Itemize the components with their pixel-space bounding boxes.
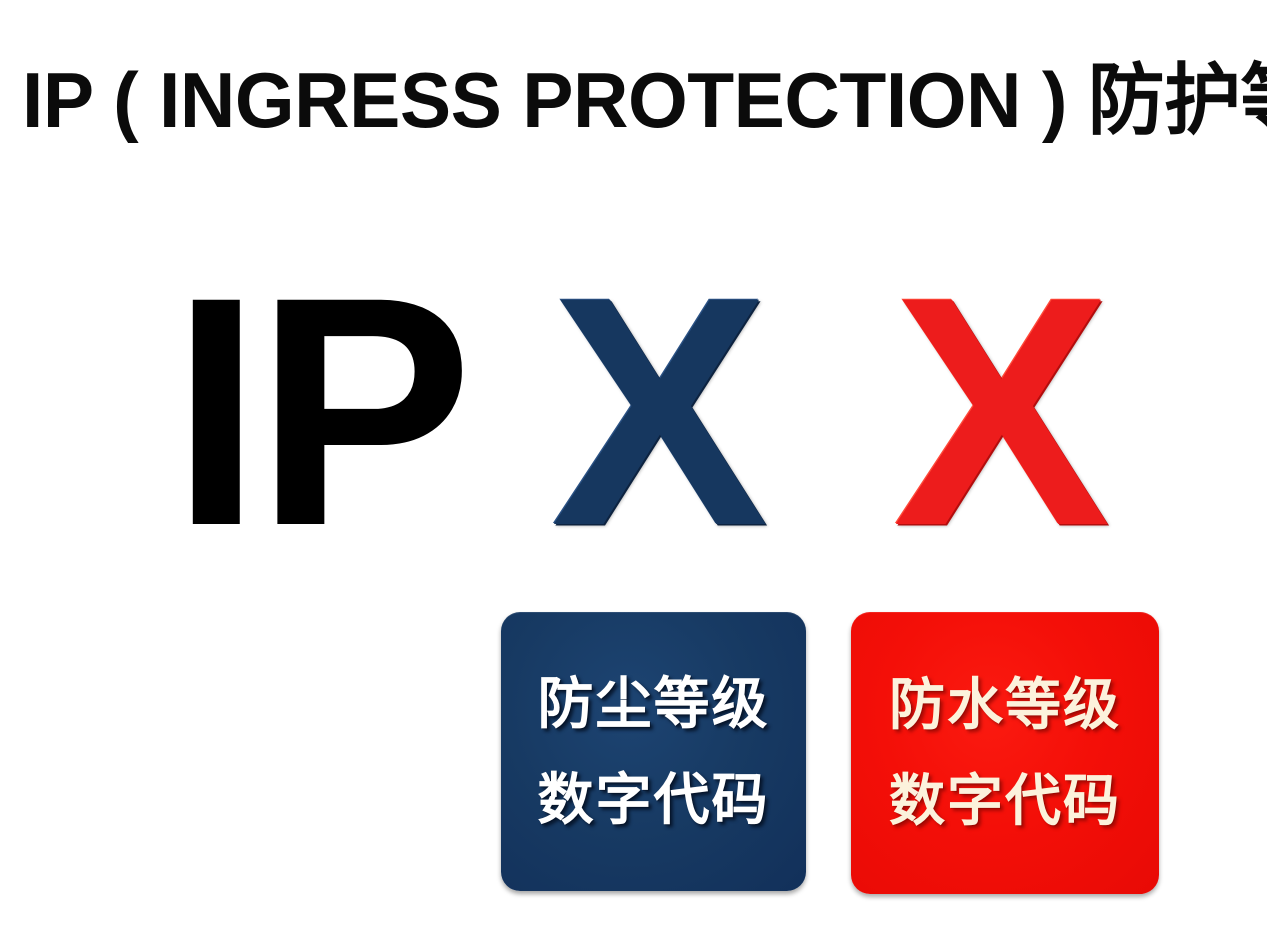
dust-digit-placeholder: X xyxy=(551,262,768,562)
ip-code-diagram: IP X X xyxy=(0,262,1267,562)
dust-rating-box: 防尘等级 数字代码 xyxy=(501,612,806,891)
slide-canvas: IP ( INGRESS PROTECTION ) 防护等级 IP X X 防尘… xyxy=(0,0,1267,949)
water-rating-box-line1: 防水等级 xyxy=(889,677,1121,733)
ip-prefix-letters: IP xyxy=(171,262,467,562)
page-title: IP ( INGRESS PROTECTION ) 防护等级 xyxy=(22,52,1230,148)
dust-rating-box-line2: 数字代码 xyxy=(538,772,770,828)
dust-rating-box-line1: 防尘等级 xyxy=(538,676,770,732)
water-rating-box: 防水等级 数字代码 xyxy=(851,612,1159,894)
water-digit-placeholder: X xyxy=(893,262,1110,562)
water-rating-box-line2: 数字代码 xyxy=(889,773,1121,829)
